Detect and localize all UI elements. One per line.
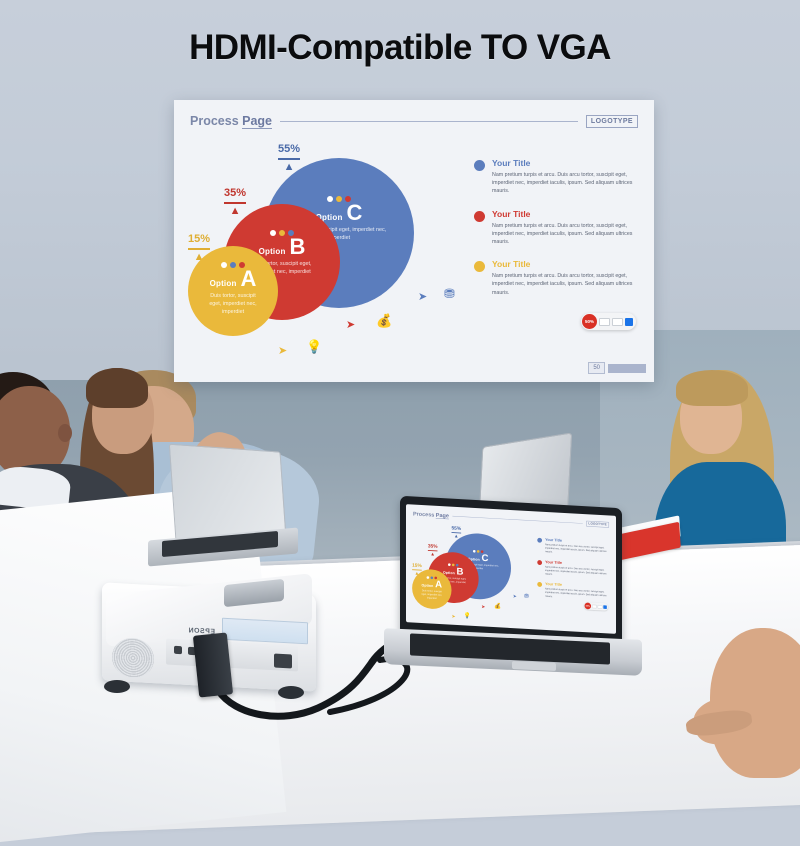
mini-legend-item: Your Title Nam pretium turpis et arcu. D…	[537, 581, 607, 601]
laptop-screen[interactable]: Process Page LOGOTYPE 55% ▲ 35%	[406, 504, 616, 634]
arrow-right-icon: ➤	[278, 346, 287, 357]
projector-label	[222, 618, 308, 645]
legend-item-yellow: Your Title Nam pretium turpis et arcu. D…	[474, 259, 634, 297]
mini-legend-dot	[537, 582, 542, 587]
page-number: 50	[588, 362, 605, 374]
watermark-badge: 50%	[581, 313, 636, 330]
option-dots	[264, 196, 414, 202]
watermark-cell-accent	[625, 318, 633, 326]
watermark-cell	[599, 318, 610, 326]
slide-footer: 50	[588, 362, 646, 374]
percentage-value: 15%	[188, 234, 210, 247]
port-power[interactable]	[274, 654, 292, 669]
arrow-right-icon: ➤	[346, 320, 355, 331]
mini-lightbulb-icon: 💡	[464, 612, 471, 618]
lightbulb-icon: 💡	[306, 340, 322, 353]
mini-header-rule	[452, 516, 582, 524]
person-attendee-hands-right	[700, 600, 800, 800]
watermark-cell	[612, 318, 623, 326]
logotype-badge: LOGOTYPE	[586, 115, 638, 128]
legend-dot-red	[474, 211, 485, 222]
dot-yellow	[279, 230, 285, 236]
mini-legend-item: Your Title Nam pretium turpis et arcu. D…	[537, 537, 607, 557]
hair-front	[676, 370, 748, 406]
header-rule	[280, 121, 578, 122]
dot-white	[327, 196, 333, 202]
legend-dot-yellow	[474, 261, 485, 272]
slide-title: Process Page	[190, 114, 272, 128]
dot-white	[270, 230, 276, 236]
mini-money-bag-icon: 💰	[494, 603, 501, 609]
attendee-laptop-left[interactable]	[148, 448, 298, 568]
option-word: Option	[259, 247, 286, 256]
arrow-right-icon: ➤	[418, 292, 427, 303]
percentage-55: 55% ▲	[278, 144, 300, 171]
percentage-35: 35% ▲	[224, 188, 246, 215]
port-usb[interactable]	[174, 646, 182, 654]
mini-arrow-right-icon: ➤	[452, 614, 456, 619]
vga-connector[interactable]	[193, 632, 233, 697]
mini-arrow-right-icon: ➤	[481, 605, 485, 610]
option-dots	[188, 262, 278, 268]
venn-diagram: 55% ▲ 35% ▲ 15% ▲	[186, 142, 466, 372]
footer-bar	[608, 364, 646, 373]
mini-legend-dot	[537, 538, 542, 543]
option-label: Option A	[188, 270, 278, 289]
money-bag-icon: 💰	[376, 314, 392, 327]
mini-legend-item: Your Title Nam pretium turpis et arcu. D…	[537, 559, 607, 579]
mini-pct-35: 35% ▲	[428, 544, 438, 557]
coin-stack-icon: ⛃	[444, 287, 455, 300]
percentage-rule	[278, 158, 300, 160]
option-dots	[224, 230, 340, 236]
ear	[58, 424, 72, 442]
circle-option-a: Option A Duis tortor, suscipit eget, imp…	[188, 246, 278, 336]
slide: Process Page LOGOTYPE 55% ▲ 35% ▲ 15%	[174, 100, 654, 382]
legend-title: Your Title	[492, 158, 634, 168]
legend-title: Your Title	[492, 209, 634, 219]
projector-foot-left	[104, 680, 130, 693]
projector-foot-right	[278, 686, 304, 699]
option-letter: B	[290, 238, 306, 257]
percentage-value: 35%	[224, 188, 246, 201]
arrow-up-icon: ▲	[224, 207, 246, 216]
mini-legend: Your Title Nam pretium turpis et arcu. D…	[537, 537, 607, 607]
mini-legend-dot	[537, 560, 542, 565]
option-letter: A	[241, 270, 257, 289]
dot-blue	[230, 262, 236, 268]
mini-arrow-right-icon: ➤	[513, 594, 517, 599]
dot-yellow	[336, 196, 342, 202]
mini-arrow-up-icon: ▲	[428, 552, 438, 556]
legend-body: Nam pretium turpis et arcu. Duis arcu to…	[492, 272, 634, 297]
percentage-value: 55%	[278, 144, 300, 157]
option-word: Option	[210, 279, 237, 288]
legend-dot-blue	[474, 160, 485, 171]
presenter-laptop[interactable]: Process Page LOGOTYPE 55% ▲ 35%	[392, 502, 628, 692]
legend-body: Nam pretium turpis et arcu. Duis arcu to…	[492, 171, 634, 196]
mini-coin-stack-icon: ⛃	[524, 593, 529, 599]
legend-item-red: Your Title Nam pretium turpis et arcu. D…	[474, 209, 634, 247]
slide-header: Process Page LOGOTYPE	[190, 114, 638, 128]
option-body: Duis tortor, suscipit eget, imperdiet ne…	[188, 292, 278, 316]
mini-watermark: 50%	[584, 602, 608, 611]
dot-white	[221, 262, 227, 268]
mini-slide-title: Process Page	[413, 511, 449, 519]
projection-screen[interactable]: Process Page LOGOTYPE 55% ▲ 35% ▲ 15%	[174, 100, 654, 382]
percentage-rule	[188, 248, 210, 250]
percentage-rule	[224, 202, 246, 204]
slide-legend: Your Title Nam pretium turpis et arcu. D…	[474, 158, 634, 310]
mini-logotype: LOGOTYPE	[586, 521, 609, 528]
scene-root: EPSON Process Page LOGOTYPE	[0, 0, 800, 800]
legend-body: Nam pretium turpis et arcu. Duis arcu to…	[492, 222, 634, 247]
option-letter: C	[347, 204, 363, 223]
mini-venn: 55% ▲ 35% ▲ 15% ▲	[411, 523, 534, 630]
legend-item-blue: Your Title Nam pretium turpis et arcu. D…	[474, 158, 634, 196]
watermark-bubble: 50%	[582, 314, 597, 329]
page-title: HDMI-Compatible TO VGA	[0, 28, 800, 68]
laptop-slide-mirror: Process Page LOGOTYPE 55% ▲ 35%	[406, 504, 616, 634]
legend-title: Your Title	[492, 259, 634, 269]
